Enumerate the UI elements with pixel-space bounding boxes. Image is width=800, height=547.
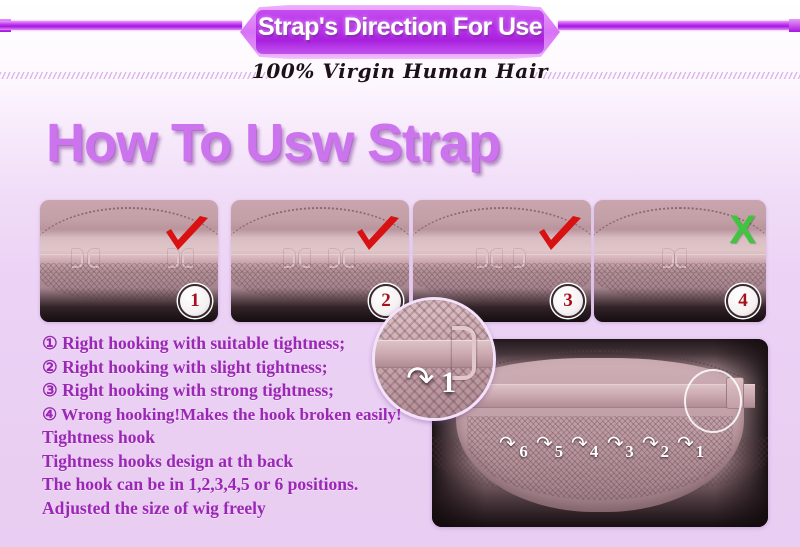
hook-icon — [88, 249, 99, 268]
banner-title: Strap's Direction For Use — [240, 13, 560, 42]
photo-panel-4: X 4 — [594, 200, 766, 322]
inset-position-label: 1 — [441, 366, 456, 400]
poster-root: Strap's Direction For Use 100% Virgin Hu… — [0, 0, 800, 547]
hook-icon — [491, 249, 502, 268]
hook-icon — [663, 249, 674, 268]
instruction-line: The hook can be in 1,2,3,4,5 or 6 positi… — [42, 473, 442, 497]
panel-badge: 3 — [551, 284, 585, 318]
instruction-line: Adjusted the size of wig freely — [42, 497, 442, 521]
hook-position-label: 4 — [590, 442, 599, 462]
instruction-line: Tightness hook — [42, 426, 442, 450]
hook-icon — [329, 249, 340, 268]
check-icon — [537, 216, 583, 256]
hook-icon — [514, 249, 525, 268]
hook-position-label: 5 — [555, 442, 564, 462]
arrow-icon: ↶ — [499, 431, 516, 456]
header-tick-right — [789, 19, 800, 32]
hook-position-label: 1 — [696, 442, 705, 462]
hook-position-label: 2 — [660, 442, 669, 462]
hook-icon — [477, 249, 488, 268]
arrow-icon: ↶ — [607, 431, 624, 456]
hook-icon — [72, 249, 83, 268]
arrow-icon: ↶ — [642, 431, 659, 456]
page-title: How To Usw Strap — [46, 112, 500, 174]
hook-icon — [284, 249, 295, 268]
hook-icon — [299, 249, 310, 268]
instruction-line: ② Right hooking with slight tightness; — [42, 356, 442, 380]
check-icon — [355, 216, 401, 256]
hook-icon — [452, 326, 476, 380]
hook-icon — [675, 249, 686, 268]
instruction-line: ③ Right hooking with strong tightness; — [42, 379, 442, 403]
instruction-list: ① Right hooking with suitable tightness;… — [42, 332, 442, 520]
panel-badge: 1 — [178, 284, 212, 318]
header-bar-left — [0, 21, 242, 30]
check-icon — [164, 216, 210, 256]
arrow-icon: ↶ — [677, 431, 694, 456]
arrow-icon: ↶ — [571, 431, 588, 456]
arrow-icon: ↶ — [536, 431, 553, 456]
hook-icon — [343, 249, 354, 268]
photo-panel-1: 1 — [40, 200, 218, 322]
header-subtitle: 100% Virgin Human Hair — [0, 59, 800, 83]
instruction-line: Tightness hooks design at th back — [42, 450, 442, 474]
hook-position-label: 6 — [519, 442, 528, 462]
cross-icon: X — [729, 212, 756, 248]
panel-badge: 4 — [726, 284, 760, 318]
strap-band — [231, 254, 409, 273]
hook-position-label: 3 — [625, 442, 634, 462]
header-bar-right — [558, 21, 800, 30]
instruction-line: ① Right hooking with suitable tightness; — [42, 332, 442, 356]
highlight-ring — [684, 369, 742, 433]
banner-ribbon: Strap's Direction For Use — [240, 5, 560, 59]
instruction-line: ④ Wrong hooking!Makes the hook broken ea… — [42, 403, 442, 427]
